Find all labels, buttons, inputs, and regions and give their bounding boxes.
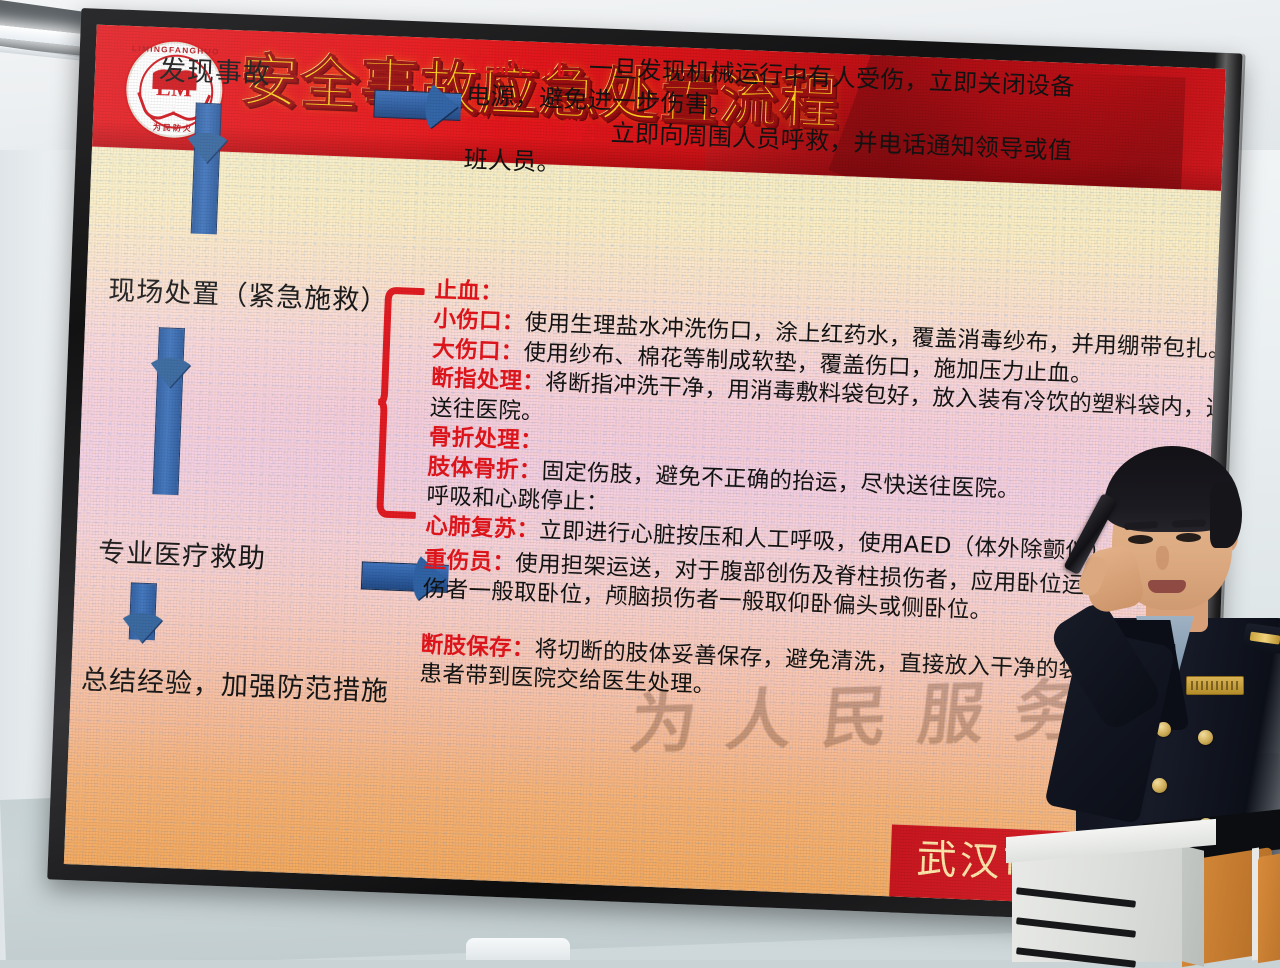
presenter-name-badge — [1186, 676, 1244, 695]
floor-object — [466, 938, 570, 960]
keyword: 大伤口： — [432, 336, 524, 366]
keyword: 重伤员： — [424, 547, 516, 577]
keyword: 肢体骨折： — [427, 454, 542, 484]
flow-step-2-label: 现场处置（紧急施救） — [108, 275, 389, 318]
keyword: 骨折处理： — [428, 424, 543, 454]
flow-step-4-label: 总结经验，加强防范措施 — [80, 665, 389, 709]
flow-step-3-label: 专业医疗救助 — [97, 537, 266, 576]
flow-step-1-label: 发现事故 — [158, 55, 271, 92]
presenter-nose — [1156, 546, 1169, 570]
keyword: 断指处理： — [431, 365, 546, 395]
uniform-button — [1152, 778, 1167, 793]
presenter-hair-side — [1210, 482, 1242, 548]
keyword: 呼救与报警： — [465, 113, 612, 147]
presenter-eye — [1128, 535, 1153, 544]
flow-arrow-down-3 — [116, 582, 169, 668]
podium-and-chairs — [1006, 828, 1280, 960]
flow-arrow-down-1 — [178, 102, 234, 264]
presenter-eyebrow — [1172, 519, 1206, 527]
line-text: 呼吸和心跳停止： — [426, 483, 609, 516]
presenter-eye — [1176, 533, 1201, 542]
flowchart-column: 发现事故 现场处置（紧急施救） 专业医疗救助 总结经验，加强防范措施 — [82, 25, 415, 876]
chair — [1258, 851, 1280, 963]
keyword: 止血： — [434, 277, 503, 306]
line-text: 班人员。 — [463, 146, 561, 178]
line-text: 送往医院。 — [430, 395, 545, 425]
presenter-mouth — [1148, 580, 1186, 593]
keyword: 立即停机： — [467, 49, 590, 82]
flow-arrow-down-2 — [139, 327, 197, 525]
uniform-button — [1198, 730, 1213, 745]
keyword: 心肺复苏： — [425, 513, 540, 543]
keyword: 断肢保存： — [420, 632, 535, 662]
keyword: 小伤口： — [433, 307, 525, 337]
